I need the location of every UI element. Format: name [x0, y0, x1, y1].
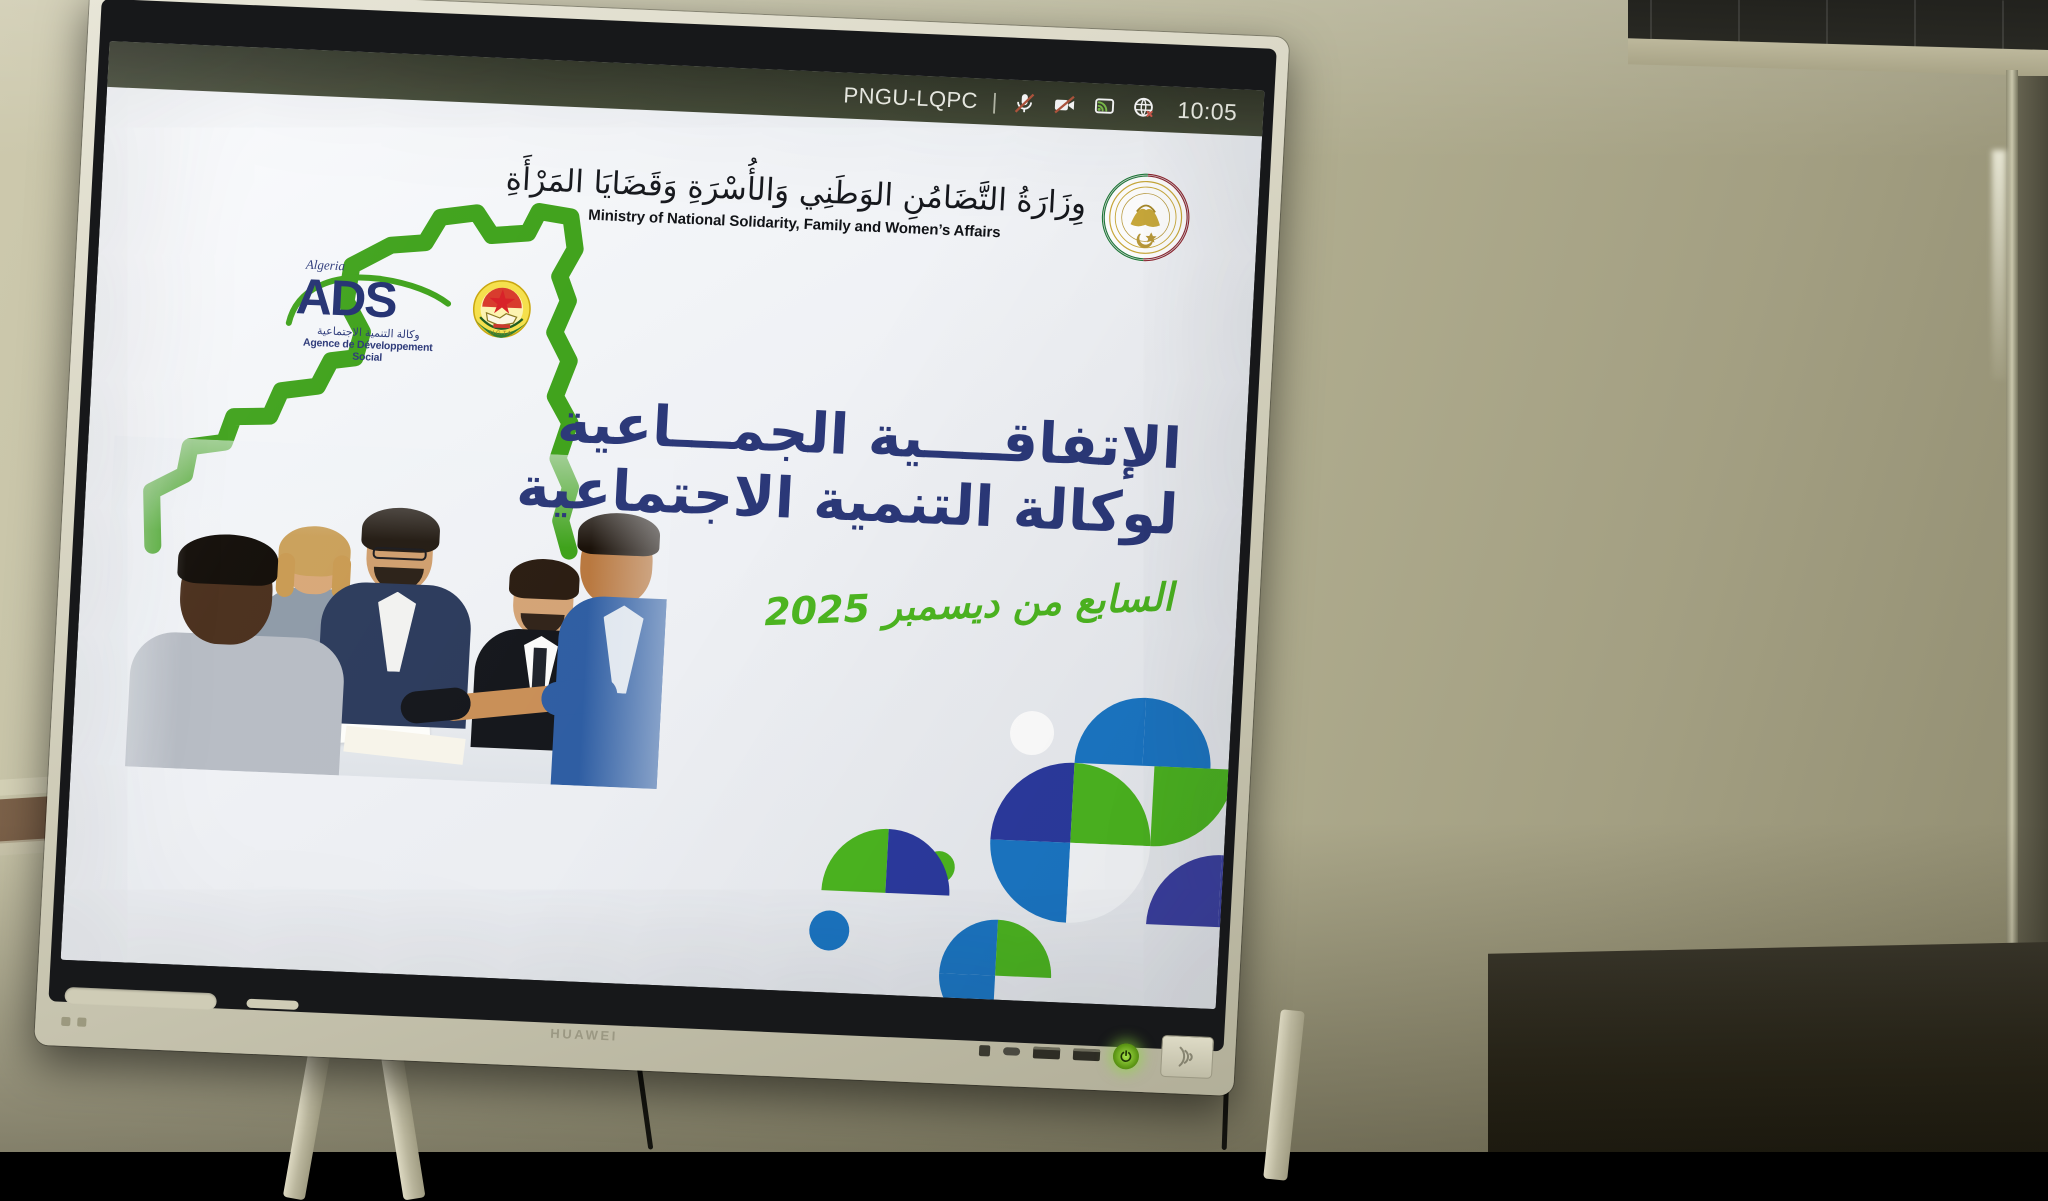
- network-disconnected-icon[interactable]: [1131, 95, 1158, 122]
- ads-logo: Algeria ADS وكالة التنمية الاجتماعية Age…: [289, 259, 450, 367]
- ugta-union-emblem: U.G.T.A: [462, 272, 542, 351]
- usb-a-port-2[interactable]: [1073, 1048, 1101, 1061]
- power-button[interactable]: ⏻: [1112, 1043, 1139, 1070]
- bezel-indicator-marks: [61, 1017, 86, 1027]
- slide-title-block: الإتفاقــــية الجمـــاعية لوكالة التنمية…: [511, 389, 1183, 619]
- slide-date: السابع من ديسمبر 2025: [511, 575, 1174, 644]
- decorative-circle-pattern: [786, 661, 1233, 1009]
- screen-cast-icon[interactable]: [1091, 93, 1118, 120]
- presentation-slide: Algeria ADS وكالة التنمية الاجتماعية Age…: [61, 41, 1265, 1009]
- device-name-label: PNGU-LQPC: [843, 82, 979, 114]
- huawei-brand-logo: HUAWEI: [550, 1026, 618, 1044]
- power-glyph: ⏻: [1120, 1049, 1132, 1063]
- status-divider: |: [991, 89, 998, 115]
- display-bezel: Algeria ADS وكالة التنمية الاجتماعية Age…: [34, 0, 1289, 1096]
- camera-off-icon[interactable]: [1051, 91, 1078, 118]
- usb-c-port[interactable]: [1003, 1047, 1020, 1056]
- ministry-seal: [1097, 170, 1194, 266]
- microphone-muted-icon[interactable]: [1011, 90, 1038, 117]
- nfc-touch-pad[interactable]: [1160, 1035, 1214, 1079]
- huawei-interactive-display[interactable]: Algeria ADS وكالة التنمية الاجتماعية Age…: [30, 0, 1649, 1191]
- ugta-abbr: U.G.T.A: [490, 329, 513, 337]
- usb-a-port[interactable]: [1033, 1046, 1061, 1059]
- reset-pinhole-port[interactable]: [979, 1045, 991, 1056]
- port-cluster[interactable]: ⏻: [978, 1037, 1139, 1070]
- ads-wordmark: ADS: [291, 259, 450, 328]
- logo-lockup: Algeria ADS وكالة التنمية الاجتماعية Age…: [289, 259, 542, 370]
- clock-label: 10:05: [1177, 96, 1238, 126]
- door-light-reflection: [1992, 150, 2006, 380]
- display-screen[interactable]: Algeria ADS وكالة التنمية الاجتماعية Age…: [61, 41, 1265, 1009]
- nfc-icon: [1171, 1043, 1202, 1070]
- ministry-text: وِزَارَةُ التَّضَامُنِ الوَطَنِي وَالأُس…: [504, 160, 1088, 244]
